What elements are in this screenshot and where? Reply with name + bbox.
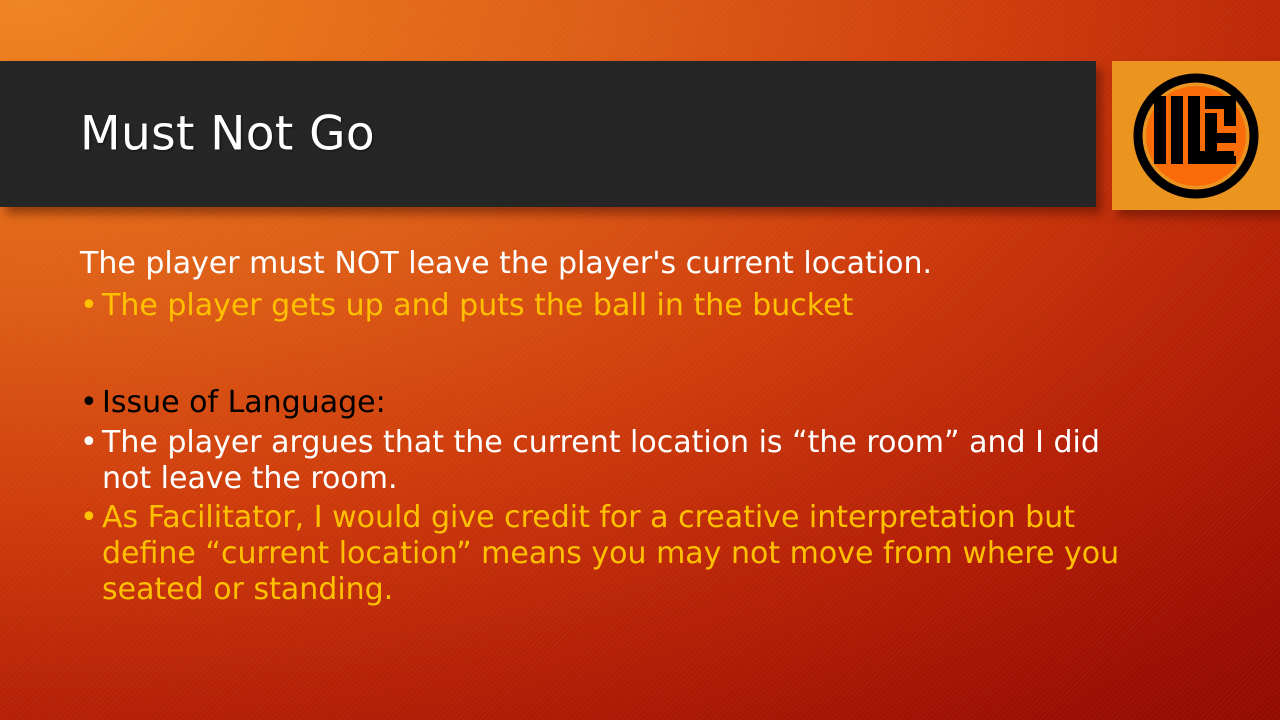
ilg-logo-icon <box>1132 72 1260 200</box>
list-item: • Issue of Language: <box>80 385 1140 421</box>
list-item-label: Issue of Language: <box>102 385 1140 421</box>
lead-paragraph: The player must NOT leave the player's c… <box>80 246 1140 282</box>
vertical-spacer <box>80 327 1140 385</box>
list-item: • The player argues that the current loc… <box>80 425 1140 496</box>
page-title: Must Not Go <box>80 107 375 162</box>
slide-canvas: Must Not Go The player must NOT leave th… <box>0 0 1280 720</box>
list-item-label: The player argues that the current locat… <box>102 425 1140 496</box>
logo-panel <box>1112 61 1280 210</box>
list-item-label: The player gets up and puts the ball in … <box>102 288 1140 324</box>
bullet-icon: • <box>80 425 102 461</box>
bullet-icon: • <box>80 500 102 536</box>
title-bar: Must Not Go <box>0 61 1096 207</box>
bullet-icon: • <box>80 385 102 421</box>
bullet-icon: • <box>80 288 102 324</box>
list-item: • As Facilitator, I would give credit fo… <box>80 500 1140 607</box>
list-item-label: As Facilitator, I would give credit for … <box>102 500 1140 607</box>
list-item: • The player gets up and puts the ball i… <box>80 288 1140 324</box>
slide-body: The player must NOT leave the player's c… <box>80 246 1140 612</box>
